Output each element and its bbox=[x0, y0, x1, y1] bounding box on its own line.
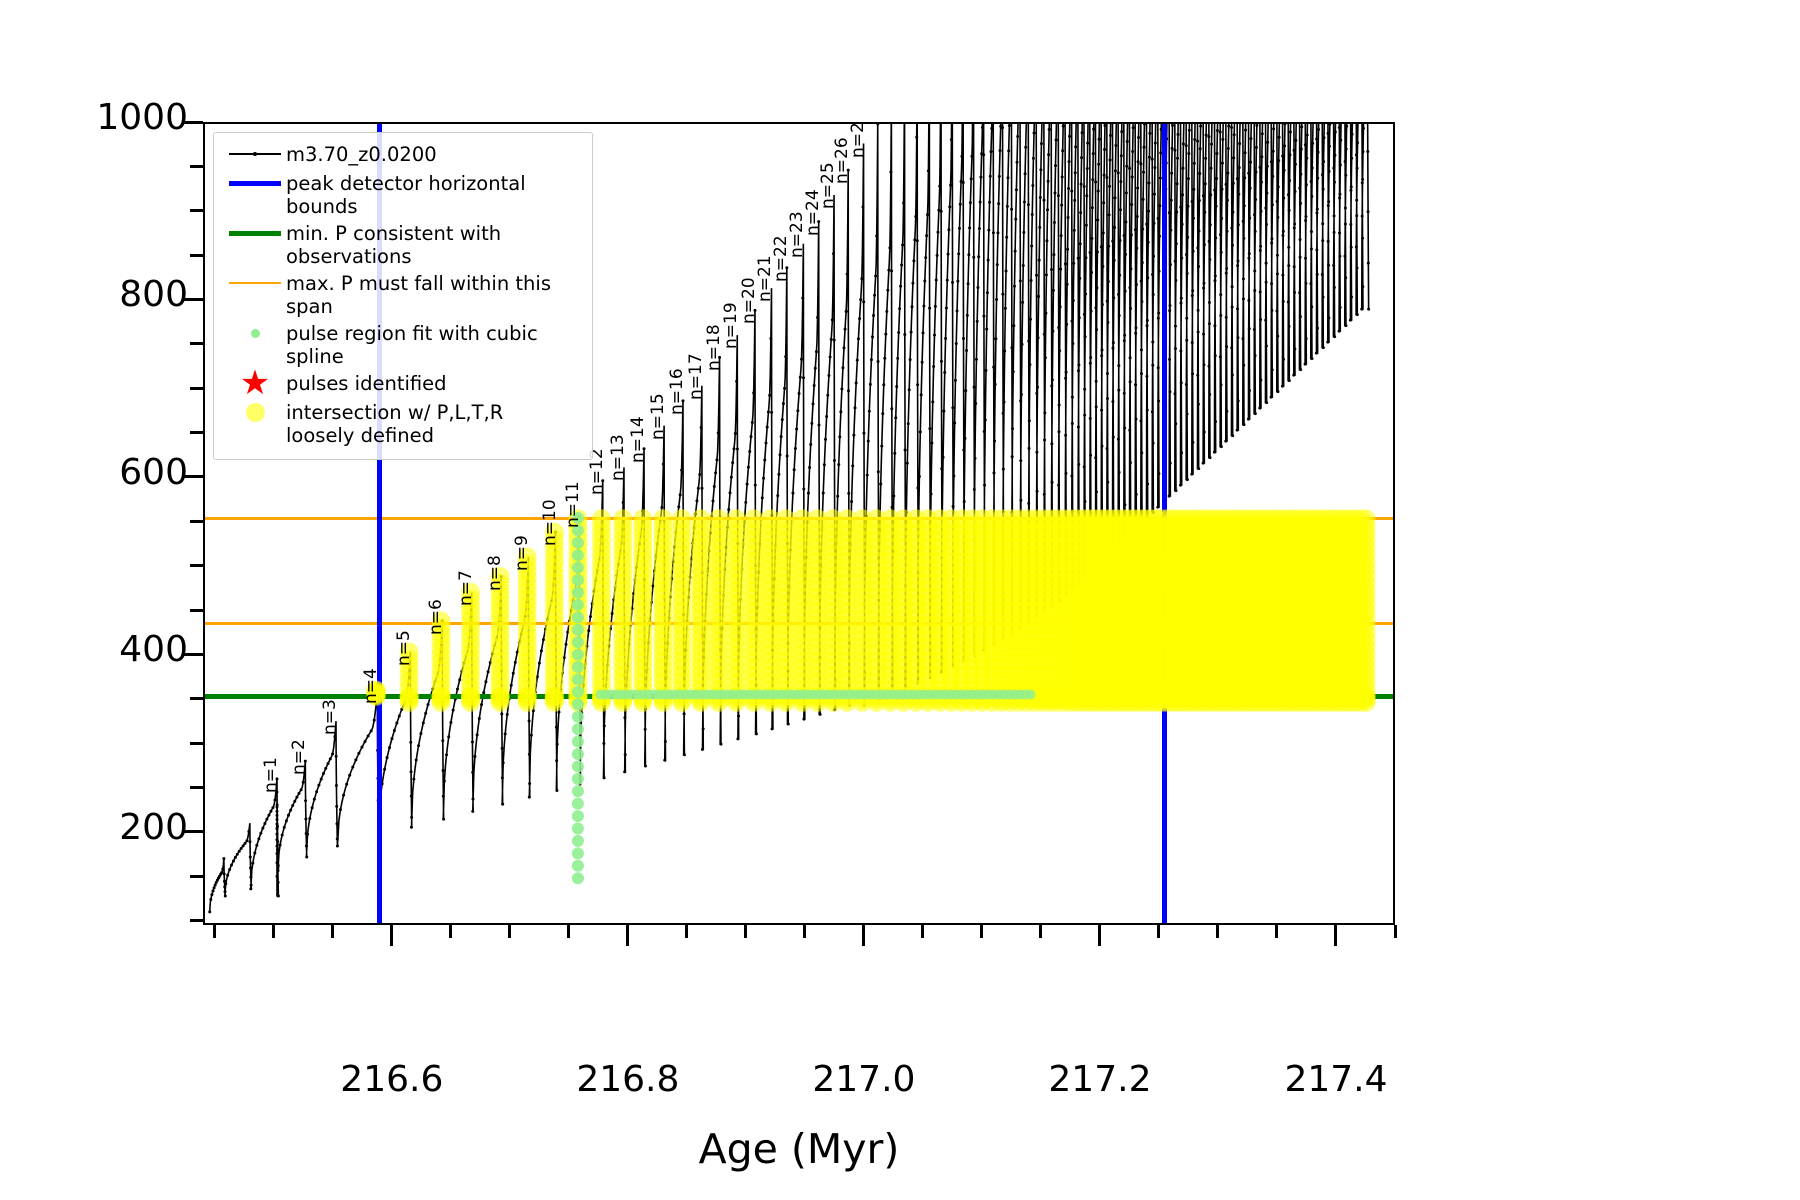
orange-line-icon bbox=[224, 270, 286, 296]
x-tick-minor bbox=[685, 925, 688, 938]
black-line-marker-icon bbox=[224, 141, 286, 167]
x-tick-minor bbox=[1216, 925, 1219, 938]
y-tick-label: 400 bbox=[48, 632, 188, 668]
pulse-label-n-4: n=4 bbox=[361, 668, 381, 704]
x-tick-major bbox=[1334, 925, 1337, 946]
x-tick-minor bbox=[1157, 925, 1160, 938]
x-tick-minor bbox=[213, 925, 216, 938]
legend-label-min-p: min. P consistent with observations bbox=[286, 220, 582, 268]
y-tick-label: 800 bbox=[48, 277, 188, 313]
x-tick-minor bbox=[508, 925, 511, 938]
x-tick-major bbox=[626, 925, 629, 946]
x-tick-minor bbox=[803, 925, 806, 938]
pulse-label-n-15: n=15 bbox=[648, 393, 668, 440]
legend-entry-peak-bounds[interactable]: peak detector horizontal bounds bbox=[224, 170, 582, 218]
x-tick-minor bbox=[744, 925, 747, 938]
pulse-label-n-10: n=10 bbox=[540, 499, 560, 546]
y-tick-label: 600 bbox=[48, 455, 188, 491]
y-tick-minor bbox=[190, 875, 203, 878]
pulse-label-n-11: n=11 bbox=[563, 482, 583, 529]
x-tick-major bbox=[862, 925, 865, 946]
y-tick-minor bbox=[190, 165, 203, 168]
pulse-label-n-14: n=14 bbox=[628, 416, 648, 463]
yellow-dot-icon bbox=[224, 399, 286, 425]
y-tick-label: 1000 bbox=[48, 100, 188, 136]
legend-label-peak-bounds: peak detector horizontal bounds bbox=[286, 170, 582, 218]
y-tick-minor bbox=[190, 342, 203, 345]
legend-label-max-p: max. P must fall within this span bbox=[286, 270, 582, 318]
pulse-label-n-3: n=3 bbox=[320, 699, 340, 735]
pulse-label-n-16: n=16 bbox=[667, 368, 687, 415]
x-tick-minor bbox=[567, 925, 570, 938]
green-line-icon bbox=[224, 220, 286, 246]
x-tick-minor bbox=[1275, 925, 1278, 938]
x-tick-label: 217.2 bbox=[1015, 1062, 1185, 1098]
legend-entry-model[interactable]: m3.70_z0.0200 bbox=[224, 141, 582, 168]
y-tick-minor bbox=[190, 387, 203, 390]
legend[interactable]: m3.70_z0.0200 peak detector horizontal b… bbox=[213, 132, 593, 460]
green-dot-icon bbox=[224, 320, 286, 346]
x-tick-minor bbox=[331, 925, 334, 938]
y-tick-minor bbox=[190, 431, 203, 434]
legend-label-spline: pulse region fit with cubic spline bbox=[286, 320, 582, 368]
y-tick-minor bbox=[190, 564, 203, 567]
legend-label-model: m3.70_z0.0200 bbox=[286, 141, 437, 166]
y-tick-minor bbox=[190, 697, 203, 700]
y-tick-minor bbox=[190, 520, 203, 523]
legend-entry-intersection[interactable]: intersection w/ P,L,T,R loosely defined bbox=[224, 399, 582, 447]
x-tick-minor bbox=[1039, 925, 1042, 938]
legend-entry-spline[interactable]: pulse region fit with cubic spline bbox=[224, 320, 582, 368]
x-tick-major bbox=[390, 925, 393, 946]
legend-label-pulses: pulses identified bbox=[286, 370, 447, 395]
pulse-label-n-5: n=5 bbox=[394, 630, 414, 666]
pulse-label-n-2: n=2 bbox=[289, 739, 309, 775]
pulse-label-n-9: n=9 bbox=[512, 535, 532, 571]
x-tick-minor bbox=[1394, 925, 1397, 938]
pulse-label-n-1: n=1 bbox=[261, 757, 281, 793]
y-tick-minor bbox=[190, 786, 203, 789]
red-star-icon: ★ bbox=[224, 370, 286, 396]
y-tick-label: 200 bbox=[48, 810, 188, 846]
x-tick-label: 217.4 bbox=[1251, 1062, 1421, 1098]
legend-entry-pulses[interactable]: ★ pulses identified bbox=[224, 370, 582, 397]
x-tick-minor bbox=[449, 925, 452, 938]
y-tick-minor bbox=[190, 609, 203, 612]
x-tick-label: 216.6 bbox=[307, 1062, 477, 1098]
x-tick-minor bbox=[980, 925, 983, 938]
y-tick-minor bbox=[190, 209, 203, 212]
legend-label-intersection: intersection w/ P,L,T,R loosely defined bbox=[286, 399, 503, 447]
pulse-label-n-17: n=17 bbox=[686, 353, 706, 400]
x-axis-label: Age (Myr) bbox=[203, 1125, 1395, 1173]
blue-line-icon bbox=[224, 170, 286, 196]
y-tick-minor bbox=[190, 919, 203, 922]
x-tick-major bbox=[1098, 925, 1101, 946]
x-tick-minor bbox=[921, 925, 924, 938]
legend-entry-max-p[interactable]: max. P must fall within this span bbox=[224, 270, 582, 318]
y-tick-minor bbox=[190, 254, 203, 257]
pulse-label-n-13: n=13 bbox=[608, 435, 628, 482]
legend-entry-min-p[interactable]: min. P consistent with observations bbox=[224, 220, 582, 268]
figure-canvas: FM period (days) Age (Myr) 2004006008001… bbox=[0, 0, 1800, 1200]
x-tick-label: 216.8 bbox=[543, 1062, 713, 1098]
pulse-label-n-7: n=7 bbox=[456, 571, 476, 607]
y-tick-minor bbox=[190, 742, 203, 745]
pulse-label-n-8: n=8 bbox=[485, 555, 505, 591]
pulse-label-n-6: n=6 bbox=[426, 599, 446, 635]
x-tick-label: 217.0 bbox=[779, 1062, 949, 1098]
x-tick-minor bbox=[272, 925, 275, 938]
pulse-label-n-27: n=27 bbox=[848, 122, 868, 158]
